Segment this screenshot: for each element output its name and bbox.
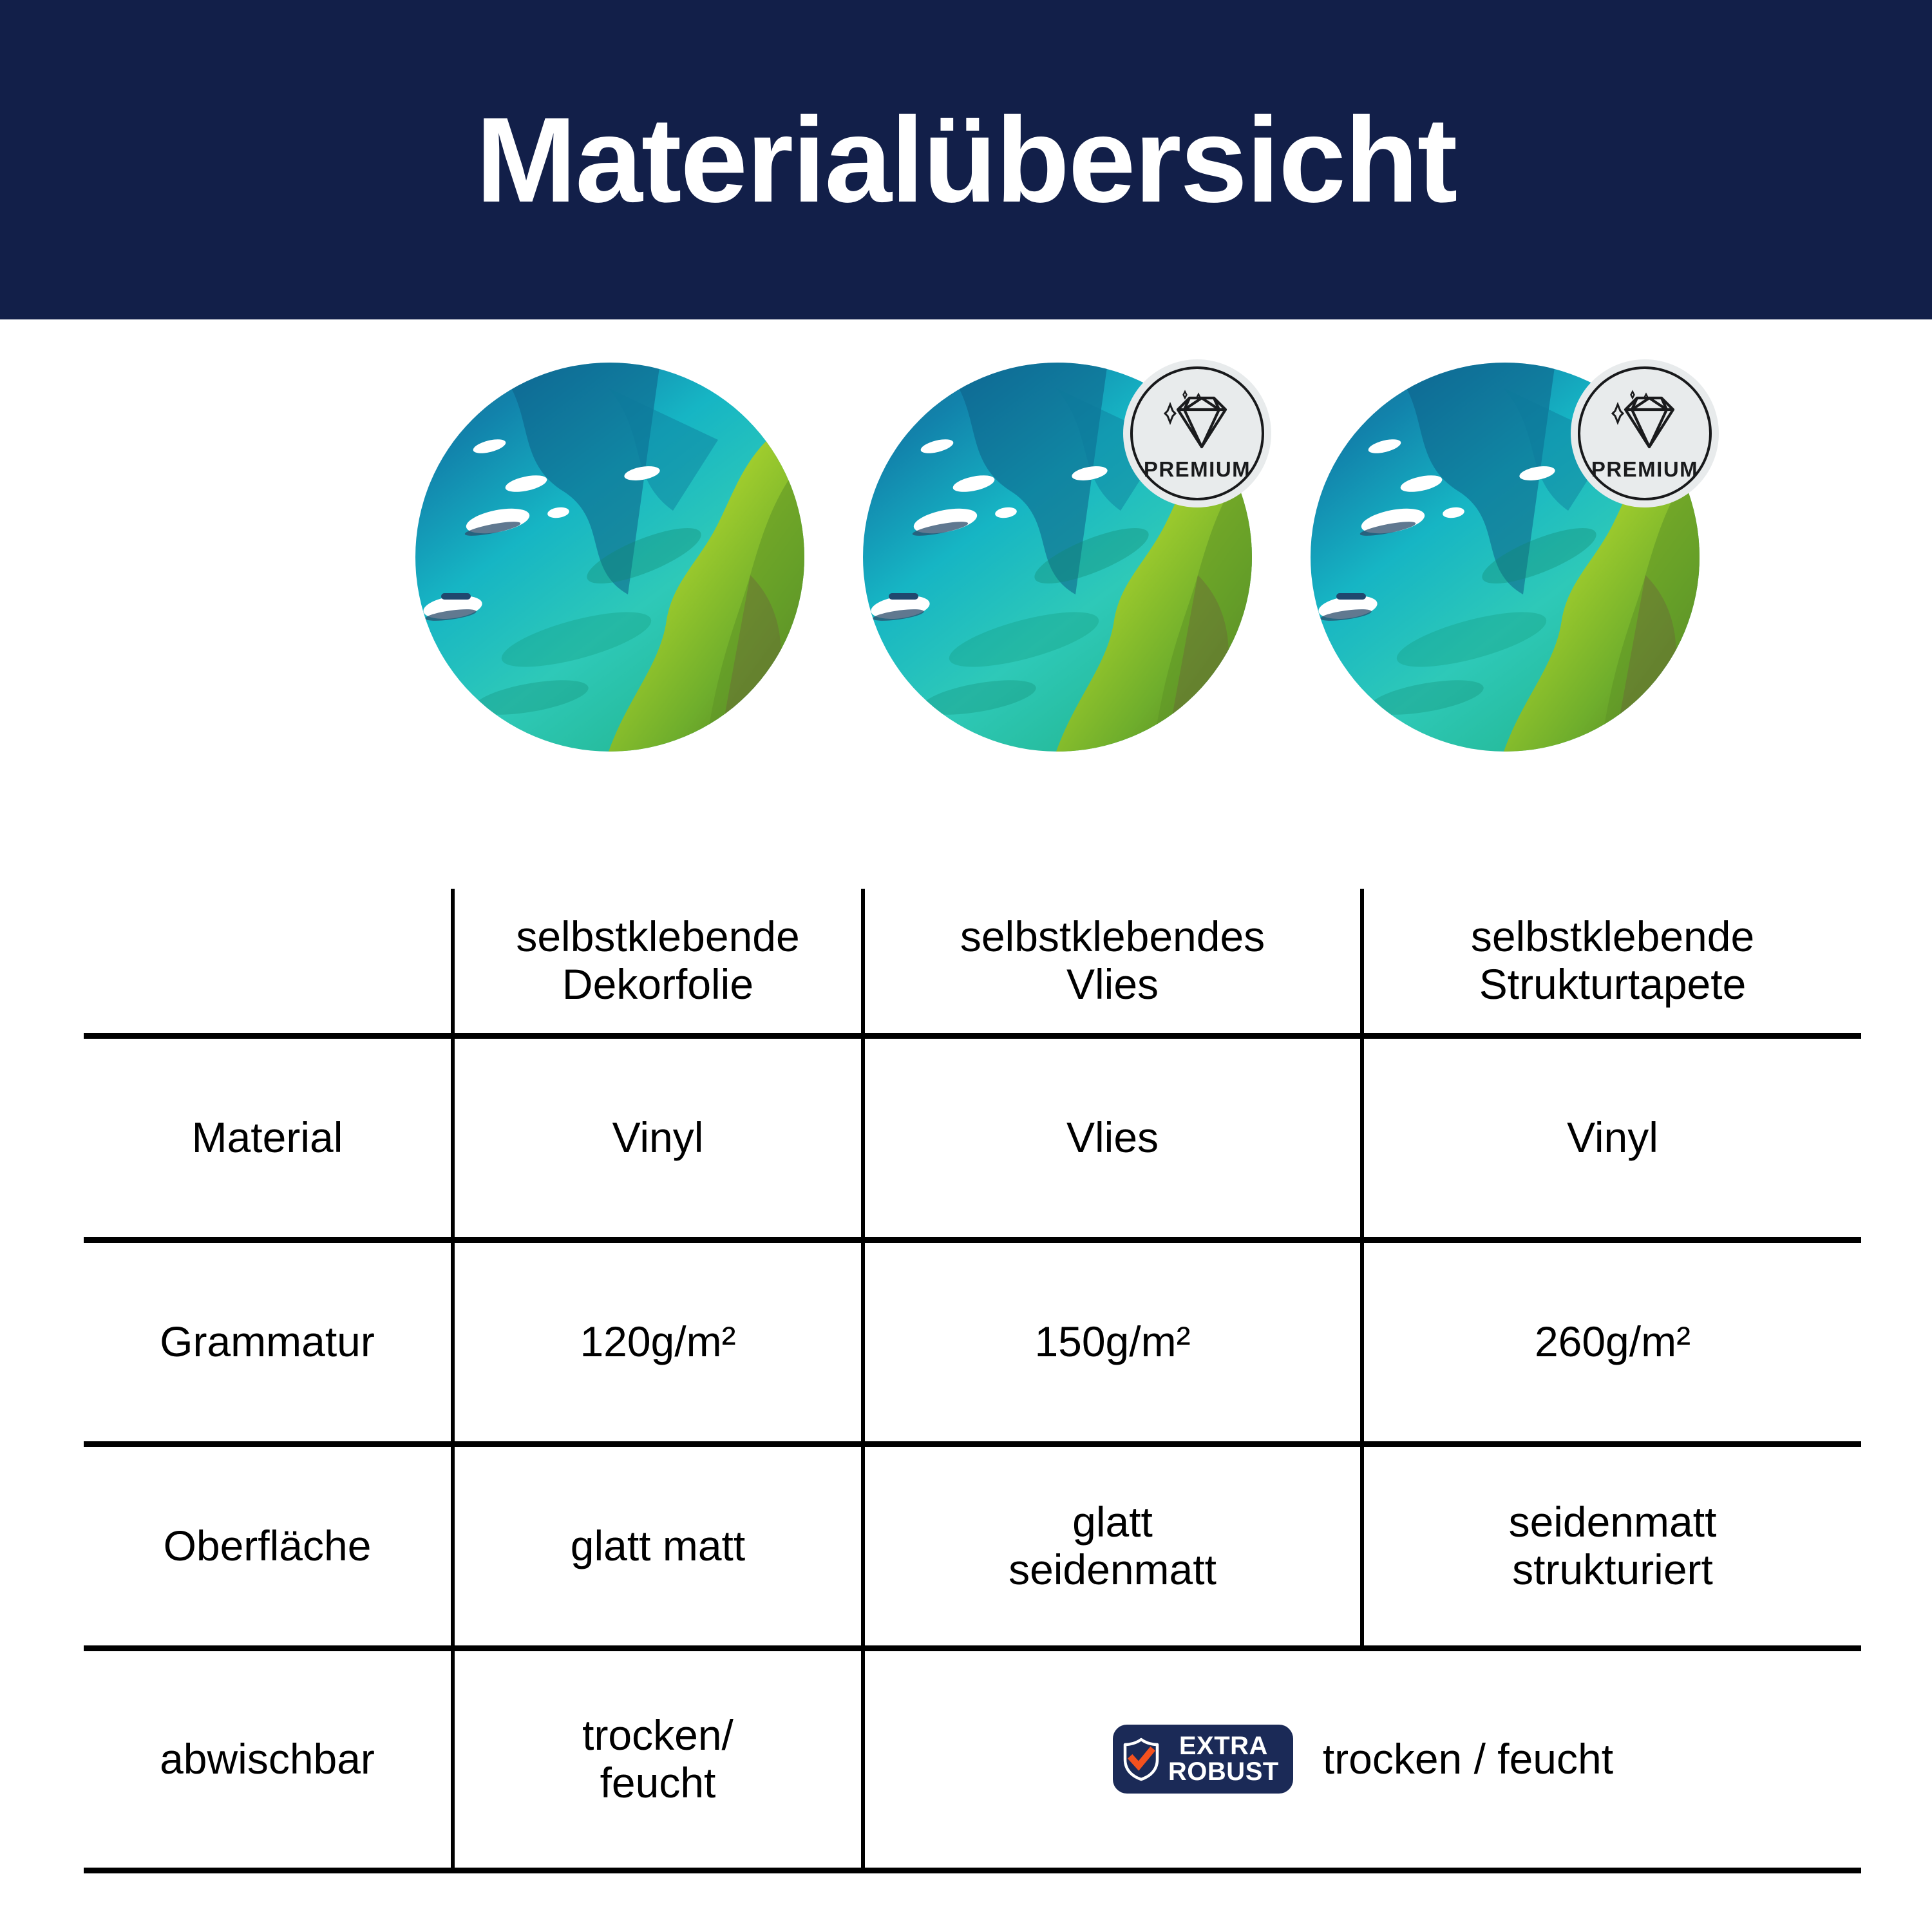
- column-header-line1: selbstklebende: [462, 913, 853, 961]
- cell-line2: strukturiert: [1372, 1546, 1853, 1594]
- column-header-line2: Strukturtapete: [1372, 961, 1853, 1009]
- cell-material-dekorfolie: Vinyl: [453, 1036, 863, 1240]
- column-header-vlies: selbstklebendes Vlies: [863, 889, 1362, 1036]
- material-comparison-table: selbstklebende Dekorfolie selbstklebende…: [84, 889, 1861, 1873]
- sample-strukturtapete[interactable]: PREMIUM: [1311, 363, 1700, 752]
- cell-line1: seidenmatt: [1372, 1499, 1853, 1546]
- bay-photo-image: [415, 363, 804, 752]
- cell-line2: seidenmatt: [873, 1546, 1352, 1594]
- cell-material-vlies: Vlies: [863, 1036, 1362, 1240]
- page-header: Materialübersicht: [0, 0, 1932, 319]
- cell-oberflaeche-strukturtapete: seidenmatt strukturiert: [1362, 1444, 1861, 1648]
- cell-grammatur-strukturtapete: 260g/m²: [1362, 1240, 1861, 1444]
- row-label-abwischbar: abwischbar: [84, 1648, 453, 1870]
- sample-dekorfolie-circle: [415, 363, 804, 752]
- extra-robust-line1: EXTRA: [1168, 1734, 1279, 1759]
- table-corner-cell: [84, 889, 453, 1036]
- table-row-material: Material Vinyl Vlies Vinyl: [84, 1036, 1861, 1240]
- table-row-grammatur: Grammatur 120g/m² 150g/m² 260g/m²: [84, 1240, 1861, 1444]
- extra-robust-line2: ROBUST: [1168, 1759, 1279, 1785]
- shield-check-icon: [1122, 1738, 1160, 1781]
- cell-line2: feucht: [462, 1759, 853, 1807]
- cell-abwischbar-merged: EXTRA ROBUST trocken / feucht: [863, 1648, 1861, 1870]
- sample-dekorfolie[interactable]: [415, 363, 804, 752]
- table-row-oberflaeche: Oberfläche glatt matt glatt seidenmatt s…: [84, 1444, 1861, 1648]
- sample-vlies[interactable]: PREMIUM: [863, 363, 1252, 752]
- column-header-dekorfolie: selbstklebende Dekorfolie: [453, 889, 863, 1036]
- premium-badge: PREMIUM: [1571, 359, 1719, 507]
- column-header-line2: Dekorfolie: [462, 961, 853, 1009]
- extra-robust-badge: EXTRA ROBUST: [1113, 1725, 1293, 1793]
- table-header-row: selbstklebende Dekorfolie selbstklebende…: [84, 889, 1861, 1036]
- cell-grammatur-vlies: 150g/m²: [863, 1240, 1362, 1444]
- page-title: Materialübersicht: [476, 99, 1457, 220]
- cell-oberflaeche-vlies: glatt seidenmatt: [863, 1444, 1362, 1648]
- material-samples-row: PREMIUM: [0, 363, 1932, 775]
- cell-grammatur-dekorfolie: 120g/m²: [453, 1240, 863, 1444]
- premium-badge-label: PREMIUM: [1144, 457, 1251, 482]
- diamond-icon: [1606, 388, 1683, 455]
- column-header-line2: Vlies: [873, 961, 1352, 1009]
- premium-badge-label: PREMIUM: [1591, 457, 1698, 482]
- row-label-material: Material: [84, 1036, 453, 1240]
- row-label-grammatur: Grammatur: [84, 1240, 453, 1444]
- column-header-line1: selbstklebende: [1372, 913, 1853, 961]
- cell-material-strukturtapete: Vinyl: [1362, 1036, 1861, 1240]
- cell-line1: glatt: [873, 1499, 1352, 1546]
- row-label-oberflaeche: Oberfläche: [84, 1444, 453, 1648]
- premium-badge: PREMIUM: [1123, 359, 1271, 507]
- column-header-strukturtapete: selbstklebende Strukturtapete: [1362, 889, 1861, 1036]
- table-row-abwischbar: abwischbar trocken/ feucht EXTRA: [84, 1648, 1861, 1870]
- cell-oberflaeche-dekorfolie: glatt matt: [453, 1444, 863, 1648]
- cell-abwischbar-merged-text: trocken / feucht: [1323, 1736, 1613, 1783]
- column-header-line1: selbstklebendes: [873, 913, 1352, 961]
- cell-line1: trocken/: [462, 1712, 853, 1759]
- diamond-icon: [1159, 388, 1236, 455]
- cell-abwischbar-dekorfolie: trocken/ feucht: [453, 1648, 863, 1870]
